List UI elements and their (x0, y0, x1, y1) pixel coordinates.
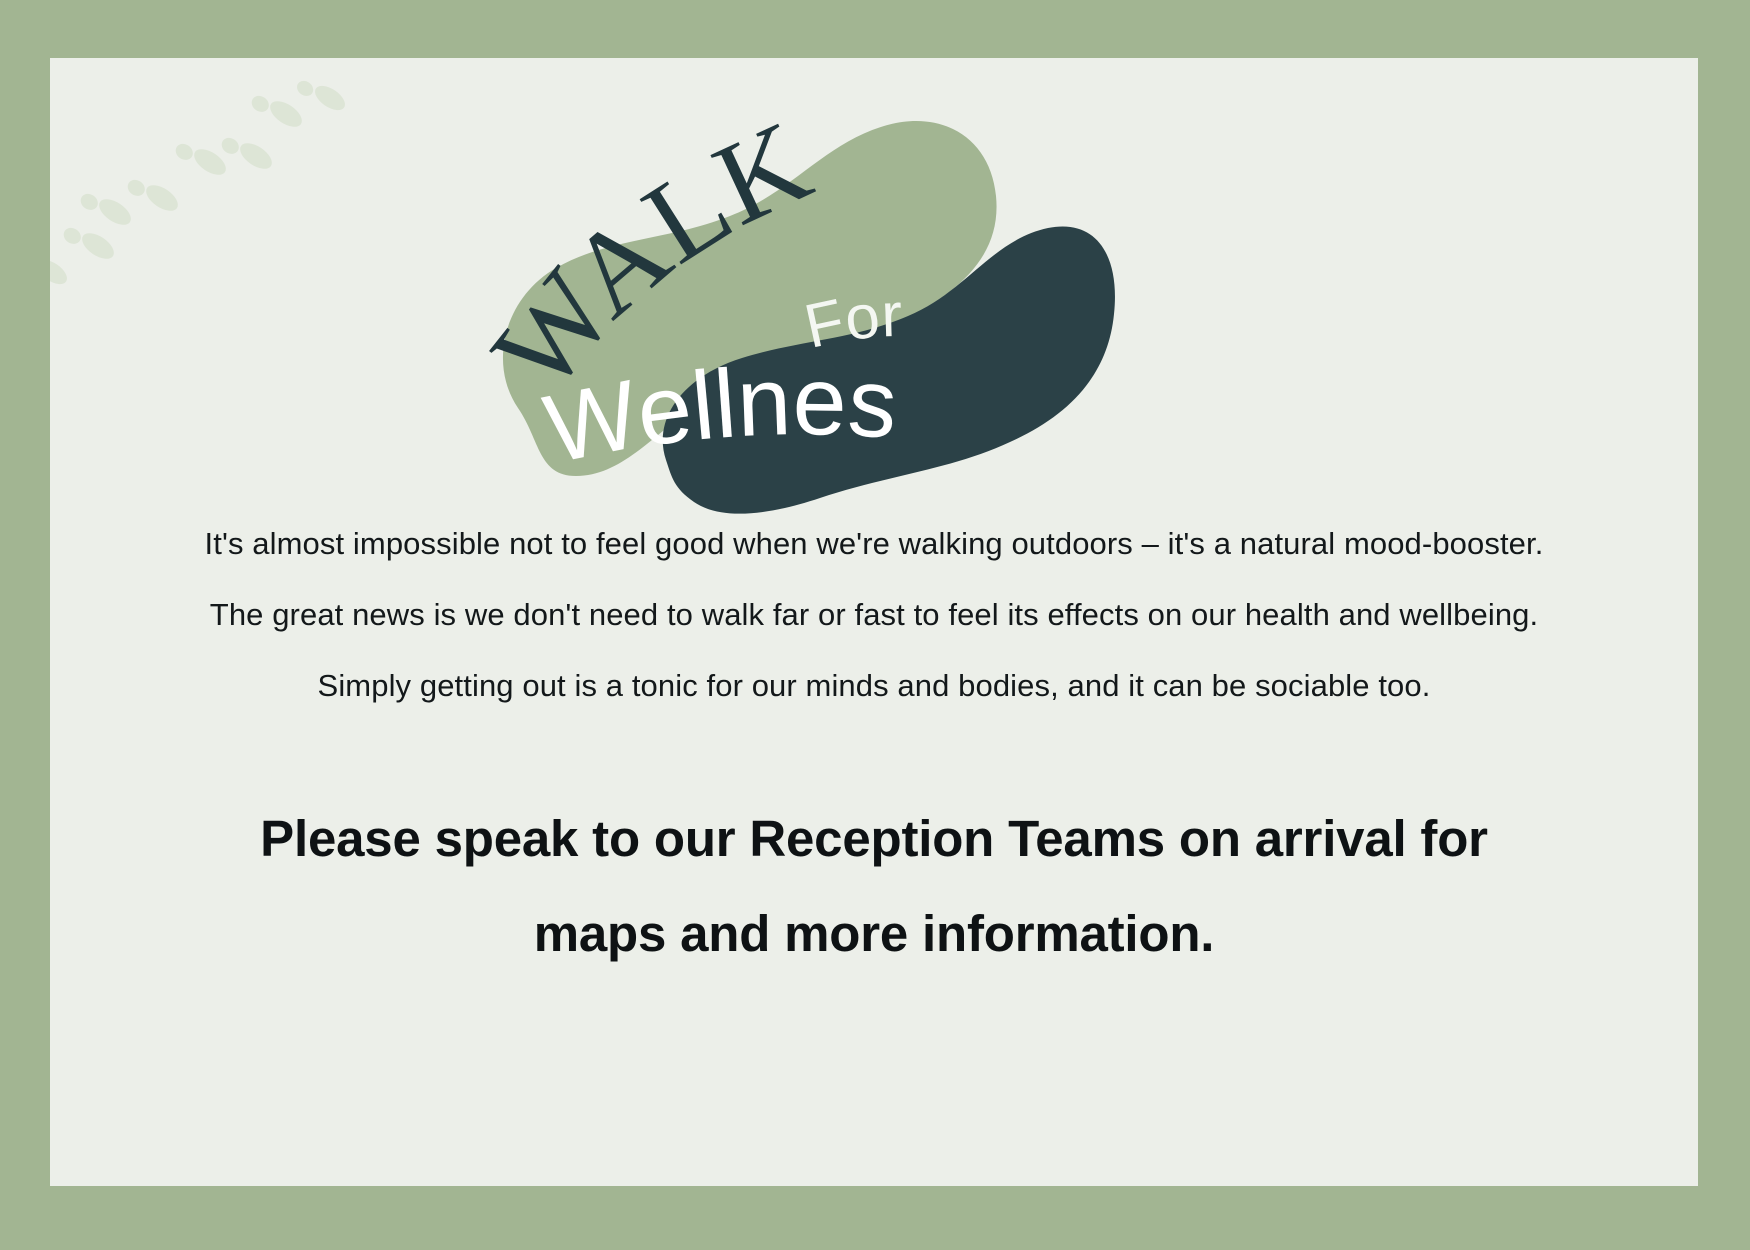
cta-line: maps and more information. (50, 908, 1698, 959)
walk-for-wellness-logo: WALK For Wellness (480, 108, 1120, 528)
call-to-action-block: Please speak to our Reception Teams on a… (50, 813, 1698, 959)
footprint-heel-icon (219, 135, 242, 158)
footprint-heel-icon (61, 225, 84, 248)
footprint-sole-icon (95, 194, 135, 230)
footprint-sole-icon (311, 81, 349, 115)
footprint-heel-icon (78, 191, 101, 214)
poster-root: WALK For Wellness It's almost impossible… (0, 0, 1750, 1250)
footprint-sole-icon (236, 138, 276, 174)
cta-line: Please speak to our Reception Teams on a… (50, 813, 1698, 864)
poster-panel: WALK For Wellness It's almost impossible… (50, 58, 1698, 1186)
body-line: Simply getting out is a tonic for our mi… (50, 670, 1698, 701)
footprint-sole-icon (190, 144, 230, 180)
footprint-trail-decoration (50, 58, 370, 358)
footprint-heel-icon (173, 141, 196, 164)
footprint-sole-icon (50, 255, 71, 289)
footprint-sole-icon (142, 180, 182, 216)
body-line: It's almost impossible not to feel good … (50, 528, 1698, 559)
body-line: The great news is we don't need to walk … (50, 599, 1698, 630)
footprint-heel-icon (294, 78, 316, 99)
footprint-heel-icon (125, 177, 148, 200)
footprint-heel-icon (249, 93, 272, 116)
body-copy-block: It's almost impossible not to feel good … (50, 528, 1698, 701)
footprint-sole-icon (78, 228, 118, 264)
footprint-sole-icon (266, 96, 306, 132)
